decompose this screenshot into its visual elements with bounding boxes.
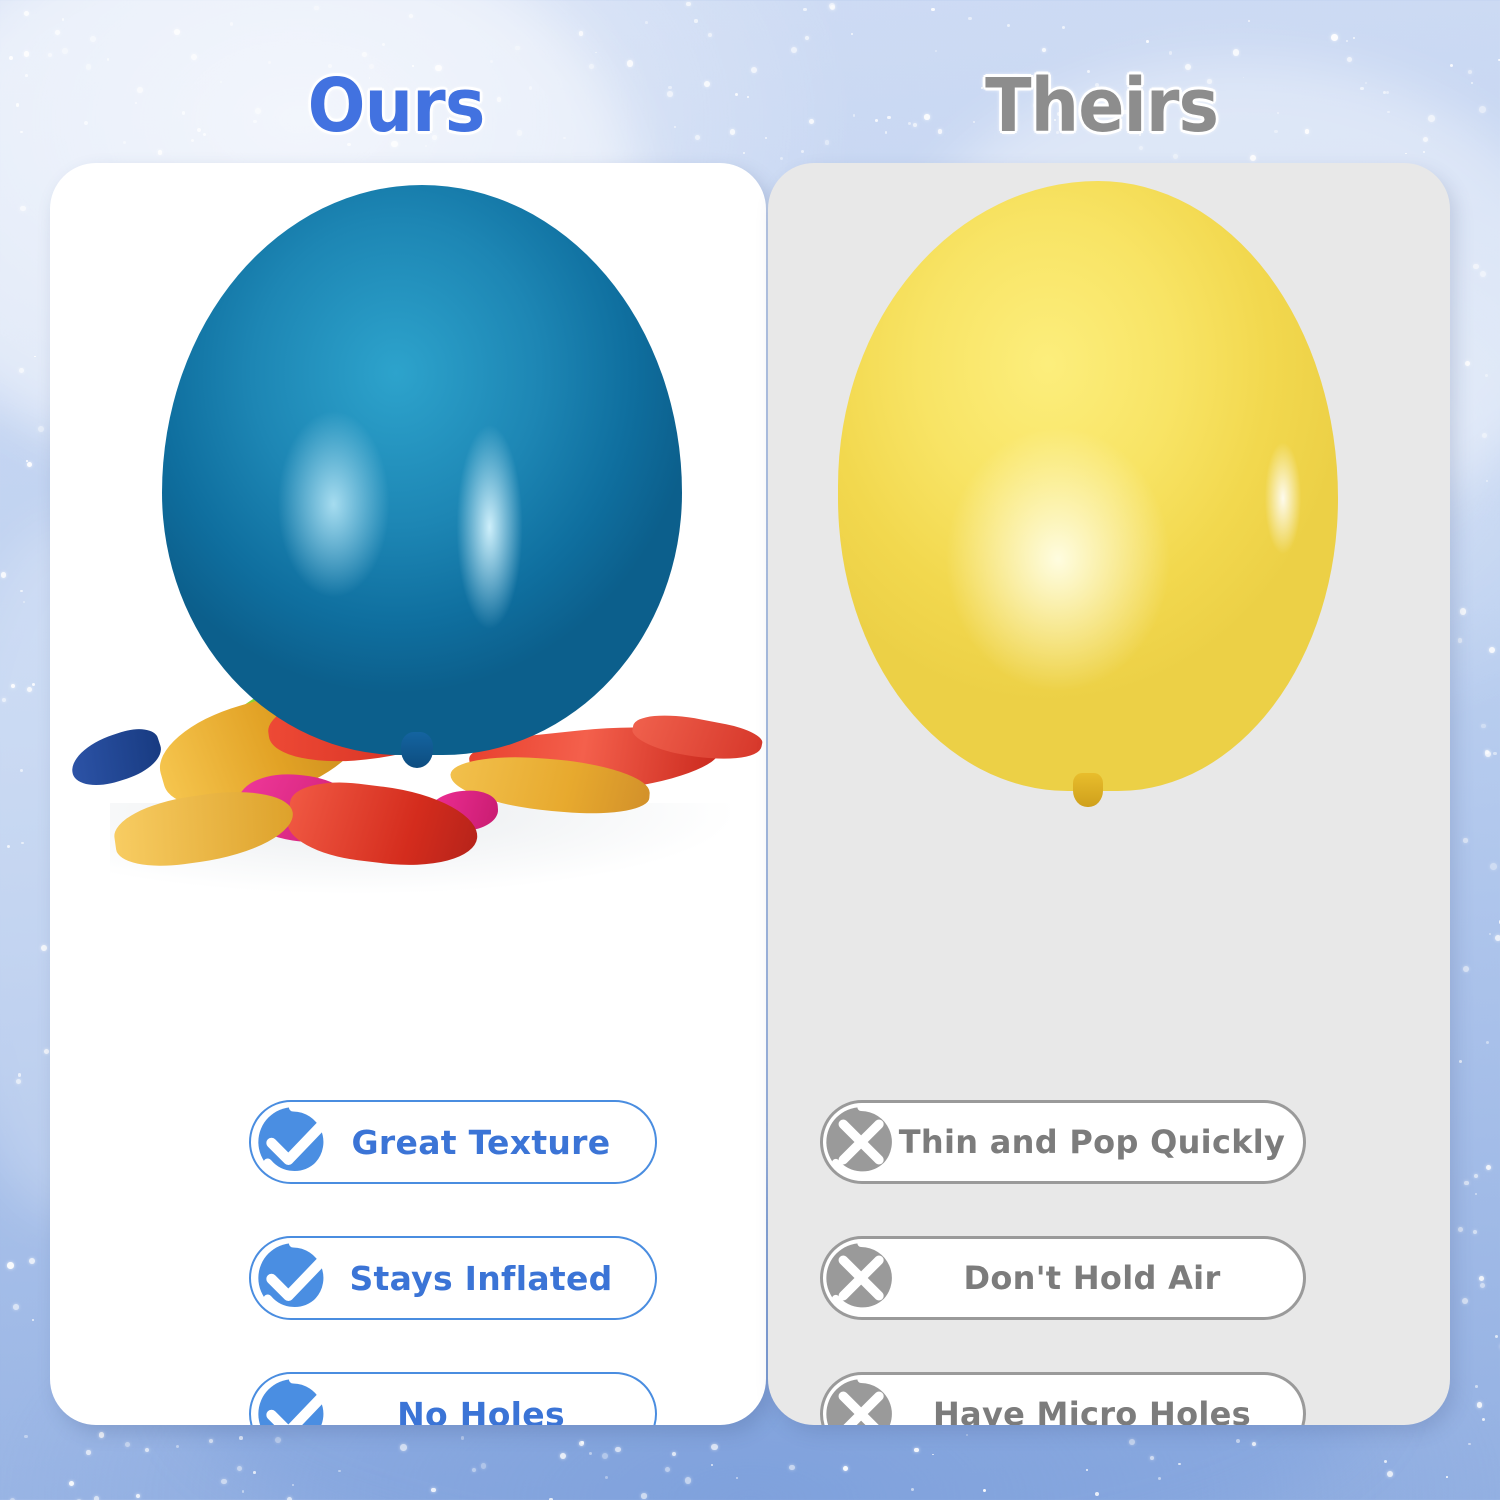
feature-label: Have Micro Holes: [820, 1395, 1306, 1425]
inflated-balloon-yellow: [838, 181, 1338, 791]
feature-pill-dont-hold-air[interactable]: Don't Hold Air: [820, 1236, 1306, 1320]
deflated-balloon-navy: [65, 722, 167, 794]
feature-label: Don't Hold Air: [820, 1259, 1306, 1297]
page-title-ours: Ours: [308, 63, 485, 149]
feature-pill-have-micro-holes[interactable]: Have Micro Holes: [820, 1372, 1306, 1425]
feature-pill-great-texture[interactable]: Great Texture: [249, 1100, 657, 1184]
page-title-theirs: Theirs: [985, 63, 1218, 149]
feature-list-ours: Great Texture Stays Inflated No Holes: [50, 1100, 766, 1425]
feature-label: Thin and Pop Quickly: [820, 1123, 1306, 1161]
feature-list-theirs: Thin and Pop Quickly Don't Hold Air Have…: [768, 1100, 1450, 1425]
inflated-balloon-blue: [162, 185, 682, 755]
comparison-card-ours: Great Texture Stays Inflated No Holes: [50, 163, 766, 1425]
titles-row: Ours Theirs: [0, 0, 1500, 163]
feature-pill-stays-inflated[interactable]: Stays Inflated: [249, 1236, 657, 1320]
feature-label: No Holes: [249, 1395, 657, 1426]
feature-label: Stays Inflated: [249, 1259, 657, 1298]
comparison-card-theirs: Thin and Pop Quickly Don't Hold Air Have…: [768, 163, 1450, 1425]
feature-label: Great Texture: [249, 1123, 657, 1162]
feature-pill-no-holes[interactable]: No Holes: [249, 1372, 657, 1425]
feature-pill-thin-and-pop-quickly[interactable]: Thin and Pop Quickly: [820, 1100, 1306, 1184]
